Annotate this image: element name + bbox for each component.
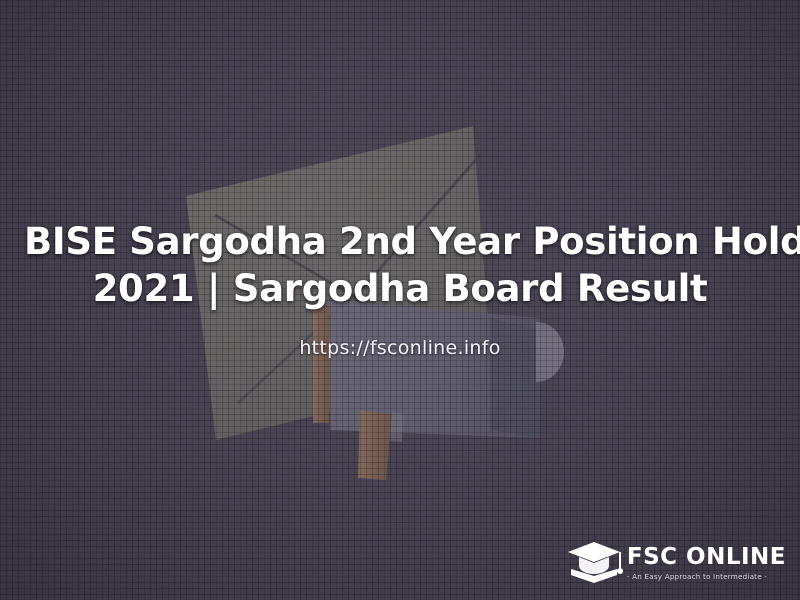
logo-text-block: FSC ONLINE - An Easy Approach to Interme… [627,546,786,580]
title-line-1: BISE Sargodha 2nd Year Position Holder [24,218,776,265]
site-logo: FSC ONLINE - An Easy Approach to Interme… [567,538,786,588]
logo-name: FSC ONLINE [627,546,786,569]
site-url: https://fsconline.info [0,337,800,359]
logo-tagline: - An Easy Approach to Intermediate - [627,573,786,580]
graduation-cap-book-icon [567,538,623,588]
page-title: BISE Sargodha 2nd Year Position Holder 2… [0,218,800,312]
title-line-2: 2021 | Sargodha Board Result [24,265,776,312]
banner-image: BISE Sargodha 2nd Year Position Holder 2… [0,0,800,600]
